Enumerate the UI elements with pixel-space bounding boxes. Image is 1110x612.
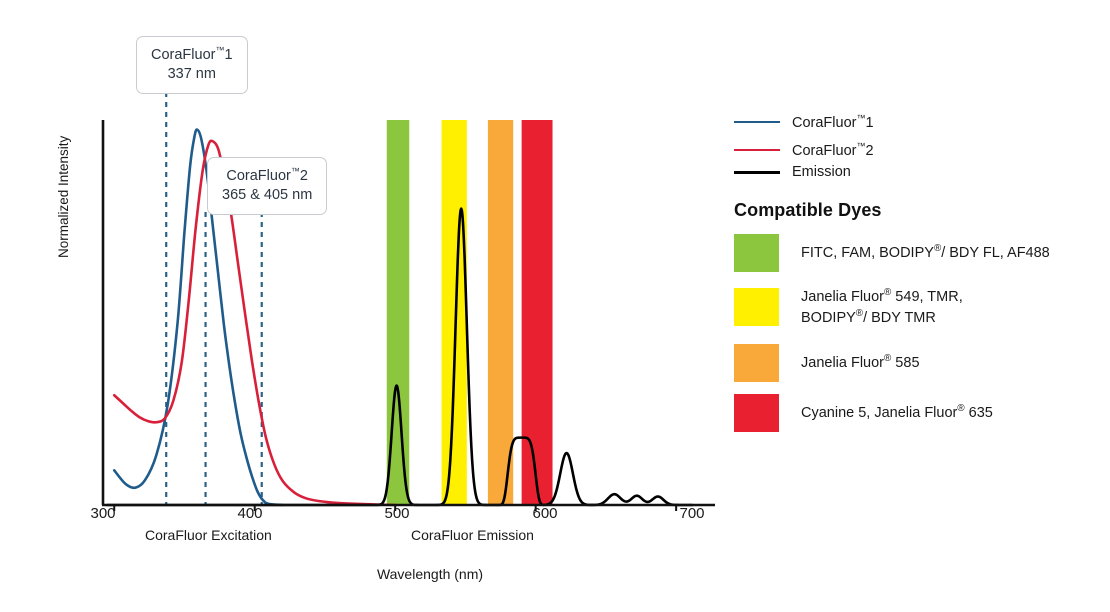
dye-item-green: FITC, FAM, BODIPY®/ BDY FL, AF488 [734,234,1050,272]
section-label-emission: CoraFluor Emission [411,527,534,543]
legend-label-corafluor1: CoraFluor™1 [792,113,874,131]
dye-label-orange: Janelia Fluor® 585 [801,352,920,373]
callout-corafluor1: CoraFluor™1 337 nm [136,36,248,94]
dye-label-green: FITC, FAM, BODIPY®/ BDY FL, AF488 [801,242,1050,263]
dye-label-red: Cyanine 5, Janelia Fluor® 635 [801,402,993,423]
compatible-dyes-title: Compatible Dyes [734,200,882,221]
dye-swatch-red [734,394,779,432]
dye-swatch-green [734,234,779,272]
legend-item-corafluor1: CoraFluor™1 [734,113,874,131]
emission-band-orange [488,120,513,505]
spectra-chart: Normalized Intensity 300 400 500 600 700… [0,0,730,612]
x-tick-400: 400 [220,505,280,522]
legend-item-corafluor2: CoraFluor™2 [734,141,874,159]
callout-corafluor2-value: 365 & 405 nm [222,186,312,206]
dye-item-red: Cyanine 5, Janelia Fluor® 635 [734,394,993,432]
dye-label-yellow: Janelia Fluor® 549, TMR, BODIPY®/ BDY TM… [801,286,963,329]
dye-item-yellow: Janelia Fluor® 549, TMR, BODIPY®/ BDY TM… [734,286,963,329]
x-axis-title: Wavelength (nm) [280,566,580,582]
legend-swatch-line-emission [734,171,780,174]
figure-root: Normalized Intensity 300 400 500 600 700… [0,0,1110,612]
x-tick-600: 600 [515,505,575,522]
dye-swatch-yellow [734,288,779,326]
callout-corafluor1-value: 337 nm [151,65,233,85]
legend-label-emission: Emission [792,164,851,180]
callout-corafluor1-title: CoraFluor™1 [151,47,233,63]
callout-corafluor2-title: CoraFluor™2 [226,168,308,184]
legend-swatch-line-corafluor1 [734,121,780,123]
dye-item-orange: Janelia Fluor® 585 [734,344,920,382]
legend-item-emission: Emission [734,164,851,180]
x-tick-700: 700 [662,505,722,522]
y-axis-title: Normalized Intensity [56,58,71,258]
x-tick-500: 500 [367,505,427,522]
emission-band-red [522,120,553,505]
x-tick-300: 300 [73,505,133,522]
legend-label-corafluor2: CoraFluor™2 [792,141,874,159]
emission-band-yellow [442,120,467,505]
section-label-excitation: CoraFluor Excitation [145,527,272,543]
side-panel: CoraFluor™1 CoraFluor™2 Emission Compati… [730,0,1110,612]
callout-corafluor2: CoraFluor™2 365 & 405 nm [207,157,327,215]
dye-swatch-orange [734,344,779,382]
legend-swatch-line-corafluor2 [734,149,780,151]
